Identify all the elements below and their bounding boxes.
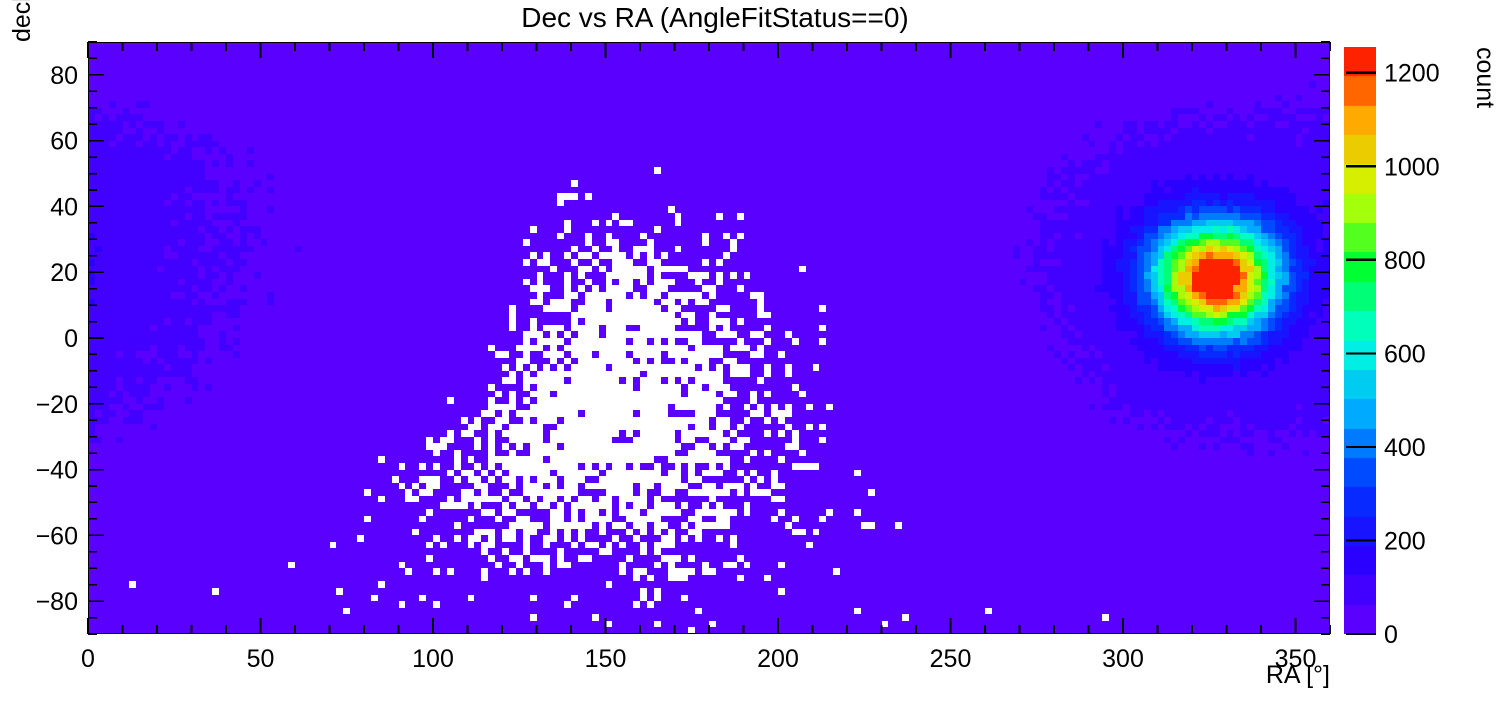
z-tick-label: 200 xyxy=(1384,527,1426,555)
y-tick-label: 80 xyxy=(50,62,78,90)
x-tick-label: 250 xyxy=(930,645,972,673)
y-tick-label: 40 xyxy=(50,193,78,221)
y-tick-label: 20 xyxy=(50,259,78,287)
plot-canvas-page: Dec vs RA (AngleFitStatus==0) 0501001502… xyxy=(0,0,1496,722)
x-axis-title: RA [°] xyxy=(1266,661,1330,689)
y-tick-label: −40 xyxy=(36,457,78,485)
y-tick-label: −80 xyxy=(36,588,78,616)
z-axis-title: count xyxy=(1471,47,1496,108)
histogram-image xyxy=(88,42,1330,634)
y-tick-label: −20 xyxy=(36,391,78,419)
z-tick-label: 1200 xyxy=(1384,60,1440,88)
y-tick-label: −60 xyxy=(36,522,78,550)
z-tick-label: 400 xyxy=(1384,434,1426,462)
x-tick-label: 100 xyxy=(412,645,454,673)
color-palette-bar xyxy=(1344,47,1376,634)
x-tick-label: 200 xyxy=(757,645,799,673)
x-tick-label: 350 xyxy=(1275,645,1317,673)
x-tick-label: 300 xyxy=(1102,645,1144,673)
z-tick-label: 1000 xyxy=(1384,153,1440,181)
z-tick-label: 800 xyxy=(1384,247,1426,275)
y-tick-label: 60 xyxy=(50,128,78,156)
z-tick-label: 0 xyxy=(1384,621,1398,649)
x-tick-label: 0 xyxy=(81,645,95,673)
x-tick-label: 50 xyxy=(247,645,275,673)
x-tick-label: 150 xyxy=(585,645,627,673)
page-title: Dec vs RA (AngleFitStatus==0) xyxy=(0,2,1430,34)
y-tick-label: 0 xyxy=(64,325,78,353)
z-tick-label: 600 xyxy=(1384,340,1426,368)
